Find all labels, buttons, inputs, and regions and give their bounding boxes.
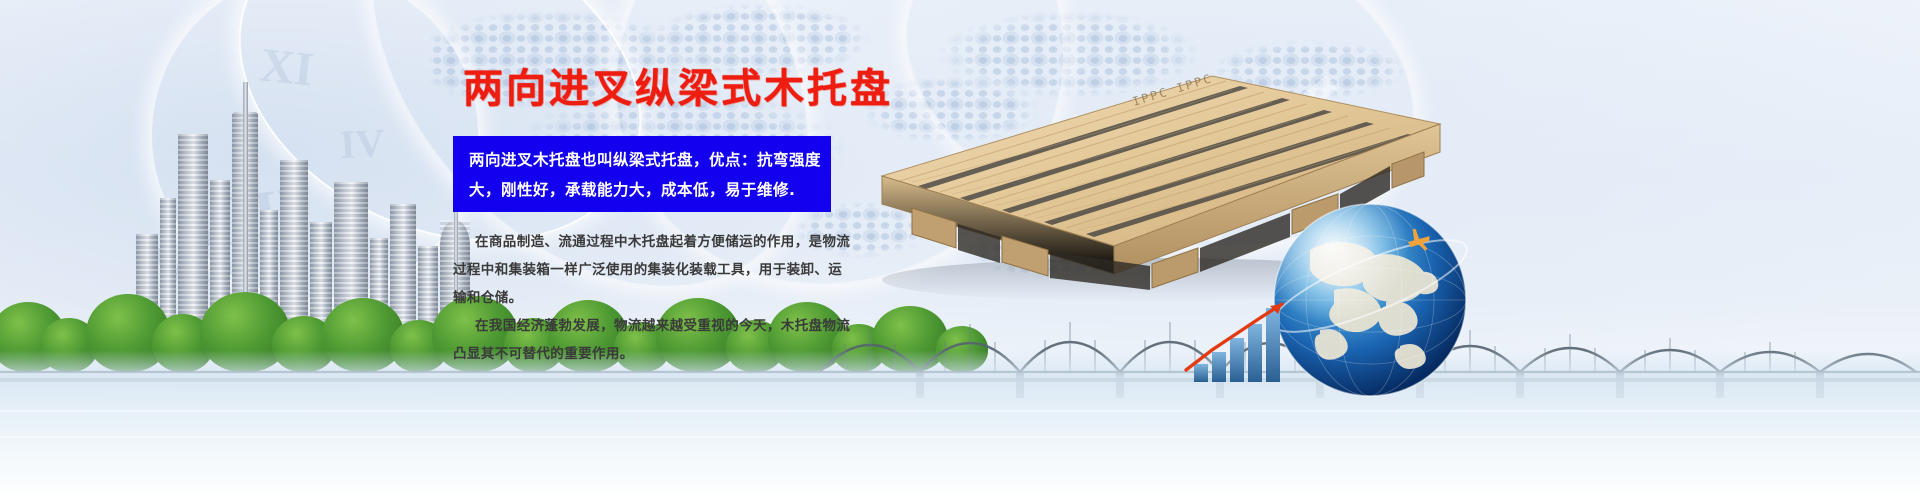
roman-numerals-watermark: VIII VII XI IV	[140, 30, 470, 320]
product-banner: VIII VII XI IV	[0, 0, 1920, 500]
arch-bridge	[0, 294, 1920, 404]
water-ripple-3	[0, 468, 1920, 470]
earth-globe	[1268, 198, 1473, 403]
water-ripple-1	[0, 410, 1920, 412]
roman-numeral-4: IV	[339, 119, 386, 168]
water-reflection	[0, 350, 1920, 500]
roman-numeral-2: VII	[147, 226, 240, 300]
description-paragraph-2: 在我国经济蓬勃发展，物流越来越受重视的今天，木托盘物流凸显其不可替代的重要作用。	[453, 312, 853, 368]
description-paragraph-1: 在商品制造、流通过程中木托盘起着方便储运的作用，是物流过程中和集装箱一样广泛使用…	[453, 228, 853, 312]
roman-numeral-1: VIII	[175, 172, 309, 265]
callout-line-2: 大，刚性好，承载能力大，成本低，易于维修.	[469, 175, 819, 205]
description-paragraphs: 在商品制造、流通过程中木托盘起着方便储运的作用，是物流过程中和集装箱一样广泛使用…	[453, 228, 853, 368]
bridge-svg	[0, 294, 1920, 404]
growth-bar-chart	[1178, 300, 1298, 382]
roman-numeral-3: XI	[257, 37, 316, 97]
water-ripple-2	[0, 436, 1920, 438]
chart-bars	[1194, 308, 1280, 382]
callout-line-1: 两向进叉木托盘也叫纵梁式托盘，优点：抗弯强度	[469, 145, 819, 175]
highlight-callout-box: 两向进叉木托盘也叫纵梁式托盘，优点：抗弯强度 大，刚性好，承载能力大，成本低，易…	[453, 136, 831, 212]
growth-chart-svg	[1178, 300, 1298, 382]
globe-svg	[1268, 198, 1473, 403]
page-title: 两向进叉纵梁式木托盘	[463, 56, 893, 114]
city-skyline	[130, 80, 490, 330]
